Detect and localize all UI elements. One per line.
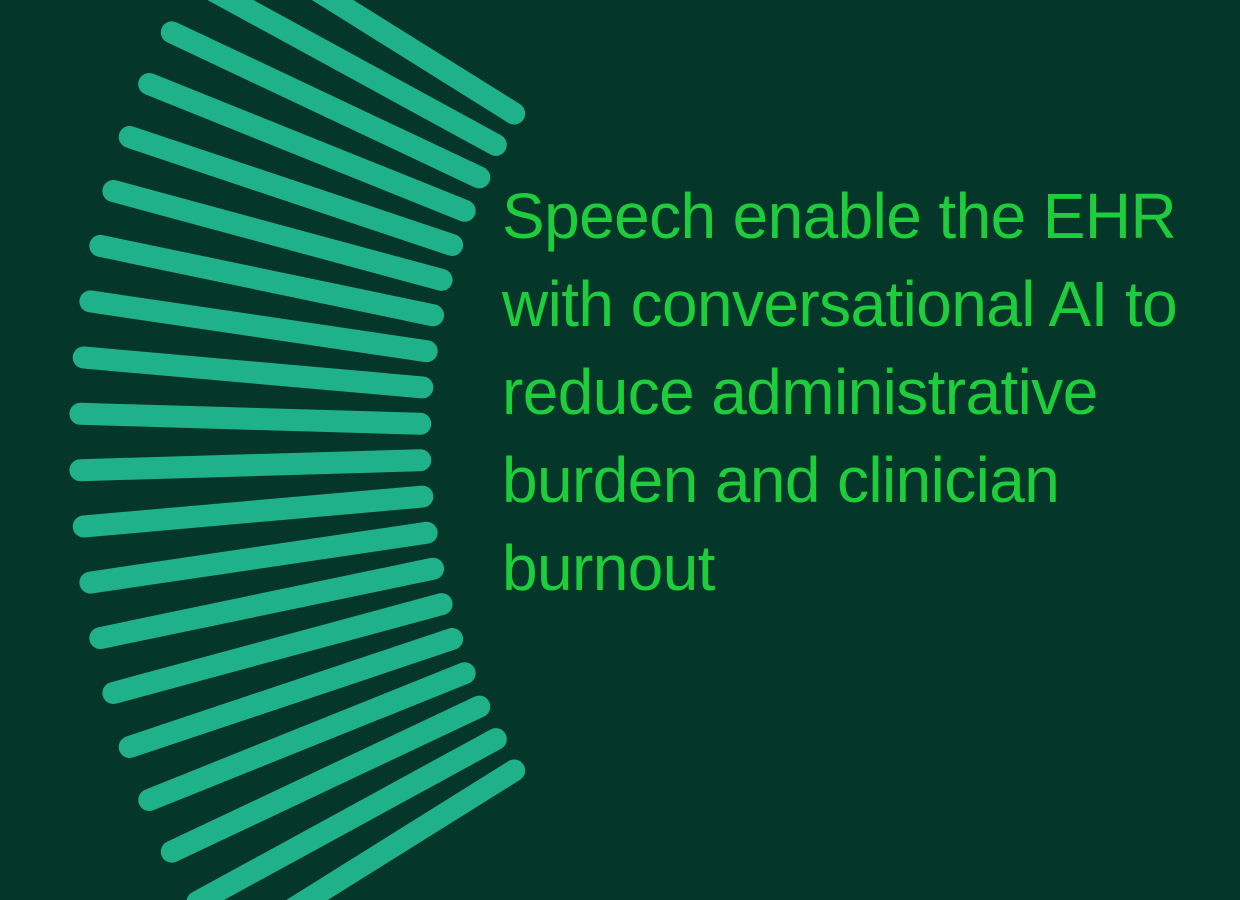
stripe-bar: [197, 739, 495, 900]
stripe-bar: [90, 533, 426, 583]
stripe-bar: [149, 673, 465, 800]
stripe-bar: [100, 246, 433, 315]
stripe-bar: [84, 497, 423, 527]
stripe-bar: [172, 707, 480, 852]
stripe-bar: [226, 0, 514, 114]
stripe-bar: [80, 460, 420, 470]
stripe-bar: [80, 414, 420, 424]
stripe-bar: [100, 569, 433, 638]
stripe-bar: [130, 639, 452, 747]
stripe-bar: [149, 84, 465, 211]
radial-stripe-fan-decoration: [0, 0, 560, 900]
stripe-bar: [197, 0, 495, 145]
stripe-bar: [84, 358, 423, 388]
stripe-bar: [90, 301, 426, 351]
slide-canvas: Speech enable the EHR with conversationa…: [0, 0, 1240, 900]
stripe-group: [80, 0, 514, 900]
stripe-bar: [130, 137, 452, 245]
headline-text: Speech enable the EHR with conversationa…: [502, 172, 1192, 612]
stripe-bar: [226, 771, 514, 900]
stripe-bar: [113, 604, 441, 693]
stripe-bar: [113, 191, 441, 280]
stripe-bar: [172, 32, 480, 177]
stripe-fan-svg: [0, 0, 560, 900]
